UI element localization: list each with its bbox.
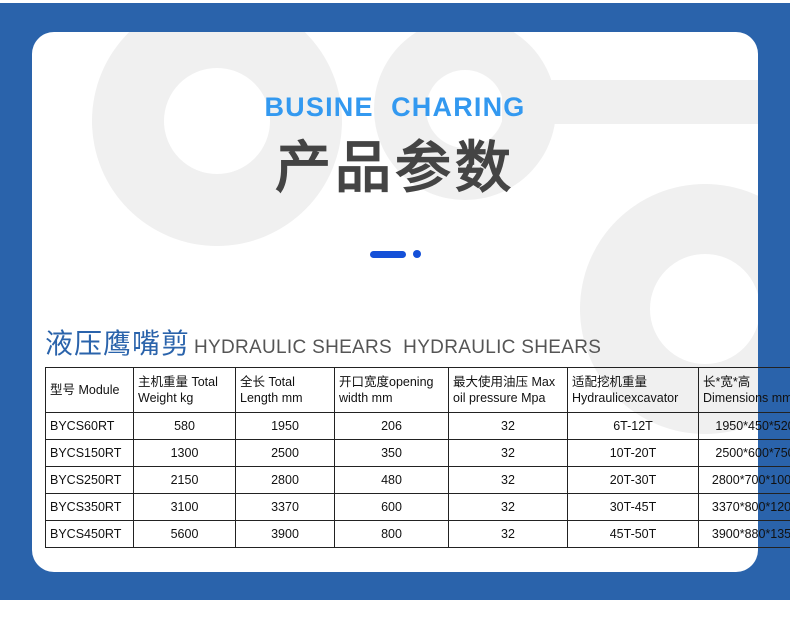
cell-excavator: 6T-12T — [568, 413, 699, 440]
column-header-model-cn: 型号 Module — [50, 382, 129, 398]
watermark-ring-hole — [650, 254, 758, 364]
column-header-dimensions: 长*宽*高 Dimensions mm — [699, 368, 790, 413]
column-header-opening-width-en: width mm — [339, 390, 444, 406]
column-header-dimensions-cn: 长*宽*高 — [703, 374, 790, 390]
cell-pressure: 32 — [449, 413, 568, 440]
column-header-weight: 主机重量 Total Weight kg — [134, 368, 236, 413]
column-header-dimensions-en: Dimensions mm — [703, 390, 790, 406]
divider-bar — [370, 251, 406, 258]
cell-excavator: 30T-45T — [568, 494, 699, 521]
cell-model: BYCS350RT — [46, 494, 134, 521]
title-divider — [0, 248, 790, 260]
section-title-en: HYDRAULIC SHEARS HYDRAULIC SHEARS — [194, 337, 601, 359]
cell-excavator: 20T-30T — [568, 467, 699, 494]
cell-pressure: 32 — [449, 440, 568, 467]
column-header-length: 全长 Total Length mm — [236, 368, 335, 413]
cell-dimensions: 3370*800*1200 — [699, 494, 790, 521]
cell-length: 2800 — [236, 467, 335, 494]
column-header-weight-cn: 主机重量 Total — [138, 374, 231, 390]
cell-opening: 350 — [335, 440, 449, 467]
table-row: BYCS150RT 1300 2500 350 32 10T-20T 2500*… — [46, 440, 790, 467]
cell-dimensions: 3900*880*1350 — [699, 521, 790, 548]
cell-dimensions: 1950*450*520 — [699, 413, 790, 440]
column-header-excavator: 适配挖机重量 Hydraulicexcavator — [568, 368, 699, 413]
cell-opening: 480 — [335, 467, 449, 494]
cell-model: BYCS250RT — [46, 467, 134, 494]
section-title-cn: 液压鹰嘴剪 — [45, 322, 190, 362]
table-row: BYCS250RT 2150 2800 480 32 20T-30T 2800*… — [46, 467, 790, 494]
product-spec-page: BUSINE CHARING 产品参数 液压鹰嘴剪 HYDRAULIC SHEA… — [0, 0, 790, 633]
cell-excavator: 10T-20T — [568, 440, 699, 467]
table-row: BYCS60RT 580 1950 206 32 6T-12T 1950*450… — [46, 413, 790, 440]
cell-weight: 1300 — [134, 440, 236, 467]
cell-pressure: 32 — [449, 494, 568, 521]
cell-model: BYCS60RT — [46, 413, 134, 440]
divider-dot — [413, 250, 421, 258]
column-header-opening-width-cn: 开口宽度opening — [339, 374, 444, 390]
brand-line: BUSINE CHARING — [0, 92, 790, 123]
spec-table: 型号 Module 主机重量 Total Weight kg 全长 Total … — [45, 367, 790, 548]
table-row: BYCS450RT 5600 3900 800 32 45T-50T 3900*… — [46, 521, 790, 548]
column-header-excavator-cn: 适配挖机重量 — [572, 374, 694, 390]
cell-pressure: 32 — [449, 521, 568, 548]
cell-excavator: 45T-50T — [568, 521, 699, 548]
cell-length: 3900 — [236, 521, 335, 548]
column-header-excavator-en: Hydraulicexcavator — [572, 390, 694, 406]
cell-weight: 5600 — [134, 521, 236, 548]
column-header-oil-pressure-cn: 最大使用油压 Max — [453, 374, 563, 390]
cell-length: 3370 — [236, 494, 335, 521]
column-header-length-cn: 全长 Total — [240, 374, 330, 390]
spec-table-body: BYCS60RT 580 1950 206 32 6T-12T 1950*450… — [46, 413, 790, 548]
page-title: 产品参数 — [0, 136, 790, 200]
column-header-weight-en: Weight kg — [138, 390, 231, 406]
cell-weight: 2150 — [134, 467, 236, 494]
cell-model: BYCS450RT — [46, 521, 134, 548]
spec-table-head: 型号 Module 主机重量 Total Weight kg 全长 Total … — [46, 368, 790, 413]
cell-length: 1950 — [236, 413, 335, 440]
cell-model: BYCS150RT — [46, 440, 134, 467]
cell-pressure: 32 — [449, 467, 568, 494]
cell-weight: 3100 — [134, 494, 236, 521]
cell-dimensions: 2800*700*1000 — [699, 467, 790, 494]
cell-length: 2500 — [236, 440, 335, 467]
cell-weight: 580 — [134, 413, 236, 440]
column-header-model: 型号 Module — [46, 368, 134, 413]
column-header-opening-width: 开口宽度opening width mm — [335, 368, 449, 413]
column-header-oil-pressure: 最大使用油压 Max oil pressure Mpa — [449, 368, 568, 413]
cell-opening: 206 — [335, 413, 449, 440]
table-header-row: 型号 Module 主机重量 Total Weight kg 全长 Total … — [46, 368, 790, 413]
section-title: 液压鹰嘴剪 HYDRAULIC SHEARS HYDRAULIC SHEARS — [45, 322, 601, 362]
column-header-oil-pressure-en: oil pressure Mpa — [453, 390, 563, 406]
column-header-length-en: Length mm — [240, 390, 330, 406]
cell-opening: 600 — [335, 494, 449, 521]
cell-dimensions: 2500*600*750 — [699, 440, 790, 467]
cell-opening: 800 — [335, 521, 449, 548]
table-row: BYCS350RT 3100 3370 600 32 30T-45T 3370*… — [46, 494, 790, 521]
